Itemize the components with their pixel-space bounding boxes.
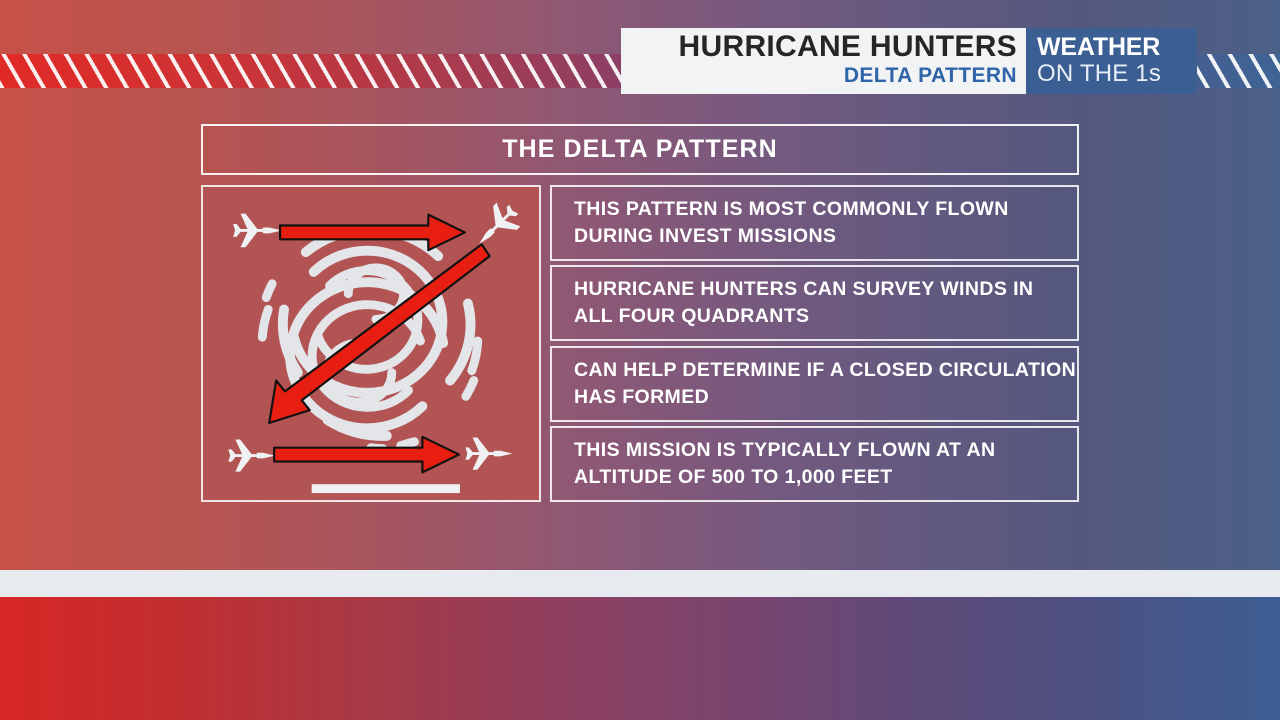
fact-text: THIS PATTERN IS MOST COMMONLY FLOWN DURI…: [574, 196, 1077, 250]
brand-title: HURRICANE HUNTERS: [679, 32, 1017, 63]
delta-pattern-diagram: [203, 187, 539, 500]
header-banner: HURRICANE HUNTERS DELTA PATTERN WEATHER …: [621, 28, 1197, 94]
background-lower-gradient: [0, 597, 1280, 720]
logo-line-weather: WEATHER: [1037, 35, 1197, 60]
page-title: THE DELTA PATTERN: [502, 135, 778, 164]
diagram-baseline-bar: [312, 484, 460, 493]
logo-line-on-the-1s: ON THE 1s: [1037, 61, 1197, 86]
fact-text: THIS MISSION IS TYPICALLY FLOWN AT AN AL…: [574, 437, 1077, 491]
brand-block: HURRICANE HUNTERS DELTA PATTERN: [621, 28, 1026, 94]
weather-on-the-1s-logo: WEATHER ON THE 1s: [1026, 28, 1197, 94]
brand-subtitle: DELTA PATTERN: [844, 64, 1017, 88]
fact-row: CAN HELP DETERMINE IF A CLOSED CIRCULATI…: [550, 346, 1079, 422]
fact-row: THIS MISSION IS TYPICALLY FLOWN AT AN AL…: [550, 426, 1079, 502]
fact-text: HURRICANE HUNTERS CAN SURVEY WINDS IN AL…: [574, 276, 1077, 330]
page-title-bar: THE DELTA PATTERN: [201, 124, 1079, 175]
fact-row: HURRICANE HUNTERS CAN SURVEY WINDS IN AL…: [550, 265, 1079, 341]
facts-column: THIS PATTERN IS MOST COMMONLY FLOWN DURI…: [550, 185, 1079, 502]
fact-text: CAN HELP DETERMINE IF A CLOSED CIRCULATI…: [574, 357, 1077, 411]
fact-row: THIS PATTERN IS MOST COMMONLY FLOWN DURI…: [550, 185, 1079, 261]
horizontal-divider-band: [0, 570, 1280, 597]
delta-pattern-diagram-panel: [201, 185, 541, 502]
